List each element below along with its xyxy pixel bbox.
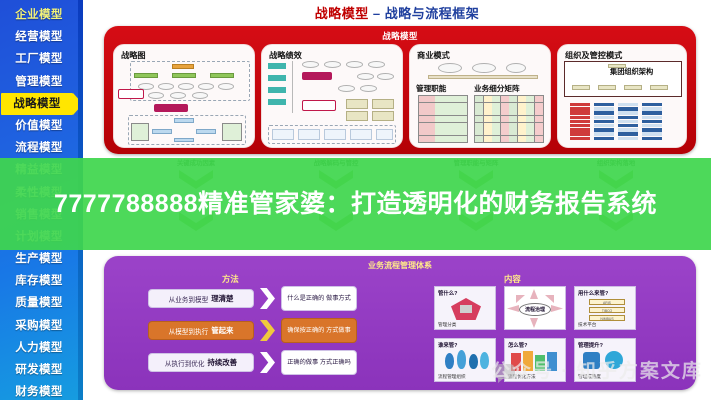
node	[218, 83, 234, 90]
node	[624, 85, 642, 90]
arrow-left-icon	[507, 305, 519, 312]
sidebar-item-label: 战略模型	[13, 98, 61, 110]
node	[650, 85, 668, 90]
sidebar-item-label: 采购模型	[15, 320, 63, 332]
node	[178, 83, 194, 90]
governance-bar-red	[570, 103, 590, 140]
sidebar-item-label: 人力模型	[15, 342, 63, 354]
content-card-footer: 技术平台	[578, 322, 596, 328]
highlight-box	[302, 100, 336, 111]
node	[210, 73, 234, 78]
content-card-title: 管什么?	[438, 289, 492, 297]
sidebar-item-0[interactable]: 企业模型	[0, 4, 78, 26]
watermark-text: 公众号 · 知乎方案文库	[491, 356, 711, 390]
sidebar-item-label: 生产模型	[15, 253, 63, 265]
callout	[302, 72, 332, 80]
page-title-primary: 战略模型	[315, 6, 369, 21]
sidebar-item-11[interactable]: 生产模型	[0, 248, 78, 270]
strategy-panel-heading: 战略模型	[104, 30, 696, 42]
node	[372, 99, 394, 109]
card-title: 商业模式	[417, 49, 550, 61]
content-card-title: 用什么来管?	[578, 289, 632, 297]
content-card-footer: 流程管理组织	[438, 374, 466, 380]
sidebar-item-1[interactable]: 经营模型	[0, 26, 78, 48]
card-strategy-performance[interactable]: 战略绩效	[261, 44, 403, 148]
arrow-down-icon	[530, 318, 538, 328]
sidebar-item-label: 研发模型	[15, 364, 63, 376]
card-strategy-map[interactable]: 战略图	[113, 44, 255, 148]
node	[268, 99, 286, 105]
sidebar-item-label: 企业模型	[15, 9, 63, 21]
arrow-diag-icon	[545, 295, 554, 303]
node	[272, 129, 294, 140]
node	[268, 75, 286, 81]
node	[428, 75, 538, 79]
flow-left-bold: 管起来	[211, 325, 233, 336]
flow-left-bold: 持续改善	[207, 357, 237, 368]
flow-left-pill: 从业务到模型 理清楚	[148, 289, 254, 308]
sidebar-item-6[interactable]: 流程模型	[0, 137, 78, 159]
node	[174, 138, 194, 142]
node	[608, 64, 626, 68]
governance-bar-blue-3	[642, 103, 662, 140]
strategy-model-panel: 战略模型 战略图	[104, 26, 696, 154]
page-title: 战略模型 – 战略与流程框架	[83, 3, 711, 22]
node	[324, 61, 341, 68]
node	[192, 92, 208, 99]
sidebar-item-3[interactable]: 管理模型	[0, 71, 78, 93]
node	[346, 111, 368, 121]
shield-inner	[460, 305, 472, 313]
sidebar-item-label: 流程模型	[15, 142, 63, 154]
arrow-right-icon	[551, 305, 563, 312]
node	[377, 73, 394, 80]
sidebar-item-label: 经营模型	[15, 31, 63, 43]
tech-row-1: TIBCO	[589, 307, 625, 313]
content-card-title: 谁来管?	[438, 341, 492, 349]
node	[506, 63, 526, 73]
person-icon	[457, 350, 466, 369]
sidebar-item-12[interactable]: 库存模型	[0, 270, 78, 292]
person-icon	[480, 352, 489, 369]
tech-row-2: NIMBUS	[589, 315, 625, 321]
arrow-up-icon	[530, 289, 538, 299]
flow-right-pill: 正确的做事 方式正确吗	[281, 350, 357, 375]
content-card-0[interactable]: 管什么? 管理分类	[434, 286, 496, 330]
sidebar-item-15[interactable]: 人力模型	[0, 337, 78, 359]
flow-row-2[interactable]: 从执行到优化 持续改善 正确的做事 方式正确吗	[148, 350, 357, 375]
sidebar-item-13[interactable]: 质量模型	[0, 292, 78, 314]
mini-table	[131, 123, 149, 141]
content-card-3[interactable]: 谁来管? 流程管理组织	[434, 338, 496, 382]
node	[357, 73, 374, 80]
node	[372, 111, 394, 121]
node	[338, 85, 355, 92]
content-card-1[interactable]: 流程治理	[504, 286, 566, 330]
page-title-secondary: – 战略与流程框架	[373, 6, 479, 21]
card-title: 战略图	[121, 49, 254, 61]
node	[302, 61, 319, 68]
flow-left-light: 从模型到执行	[169, 326, 209, 336]
content-card-title: 流程治理	[519, 303, 551, 316]
content-card-title: 怎么管?	[508, 341, 562, 349]
tech-row-0: ARIS	[589, 299, 625, 305]
content-card-title: 管理提升?	[578, 341, 632, 349]
divider	[292, 61, 293, 113]
mini-table	[222, 123, 242, 141]
card-sublabel-1: 管理职能	[416, 83, 446, 94]
node	[472, 63, 496, 73]
segment-matrix-table	[474, 95, 544, 143]
node	[268, 87, 286, 93]
card-business-model[interactable]: 商业模式 管理职能 业务细分矩阵	[409, 44, 551, 148]
node	[346, 61, 363, 68]
governance-bar-blue-1	[594, 103, 614, 140]
column-heading-method: 方法	[222, 273, 239, 285]
card-title: 战略绩效	[269, 49, 402, 61]
node	[172, 73, 196, 78]
content-card-2[interactable]: 用什么来管? ARIS TIBCO NIMBUS 技术平台	[574, 286, 636, 330]
arrow-right-icon	[260, 288, 275, 309]
flow-left-bold: 理清楚	[211, 293, 233, 304]
arrow-right-icon	[260, 320, 275, 341]
sidebar-item-label: 价值模型	[15, 120, 63, 132]
sidebar-item-label: 管理模型	[15, 76, 63, 88]
node	[172, 64, 194, 69]
column-heading-content: 内容	[504, 273, 521, 285]
node	[158, 83, 174, 90]
node	[368, 61, 385, 68]
screenshot-root: 企业模型 经营模型 工厂模型 管理模型 战略模型 价值模型 流程模型 精益模型 …	[0, 0, 711, 400]
card-org-governance[interactable]: 组织及管控模式 集团组织架构	[557, 44, 687, 148]
node	[360, 85, 377, 92]
headline-text: 7777788888精准管家婆：打造透明化的财务报告系统	[0, 158, 711, 250]
node	[376, 129, 393, 140]
sidebar-item-2[interactable]: 工厂模型	[0, 48, 78, 70]
card-sublabel-1: 集团组织架构	[610, 67, 653, 77]
node	[350, 129, 372, 140]
sidebar-item-4-active[interactable]: 战略模型	[1, 93, 73, 115]
node	[324, 129, 346, 140]
flow-left-pill: 从模型到执行 管起来	[148, 321, 254, 340]
function-matrix-table	[418, 95, 468, 143]
content-card-footer: 管理分类	[438, 322, 456, 328]
node	[198, 83, 214, 90]
sidebar-item-label: 质量模型	[15, 297, 63, 309]
sidebar-item-17[interactable]: 财务模型	[0, 381, 78, 400]
node	[152, 129, 172, 134]
node	[298, 129, 320, 140]
arrow-diag-icon	[516, 295, 525, 303]
node	[170, 92, 186, 99]
sidebar-item-16[interactable]: 研发模型	[0, 359, 78, 381]
sidebar-item-label: 库存模型	[15, 275, 63, 287]
arrow-right-icon	[260, 352, 275, 373]
sidebar-item-label: 工厂模型	[15, 53, 63, 65]
callout	[154, 104, 188, 112]
flow-right-pill: 确保按正确的 方式做事	[281, 318, 357, 343]
sidebar-item-label: 财务模型	[15, 386, 63, 398]
node	[148, 92, 164, 99]
card-sublabel-2: 业务细分矩阵	[474, 83, 520, 94]
flow-right-pill: 什么是正确的 做事方式	[281, 286, 357, 311]
flow-left-light: 从业务到模型	[169, 294, 209, 304]
highlight-box	[118, 89, 144, 99]
node	[346, 99, 368, 109]
process-panel-heading: 业务流程管理体系	[104, 260, 696, 271]
flow-row-1[interactable]: 从模型到执行 管起来 确保按正确的 方式做事	[148, 318, 357, 343]
node	[268, 63, 286, 69]
node	[438, 63, 462, 73]
person-icon	[445, 353, 454, 369]
flow-left-light: 从执行到优化	[165, 358, 205, 368]
governance-bar-blue-2	[618, 103, 638, 140]
node	[572, 85, 590, 90]
node	[174, 118, 194, 123]
sidebar-item-5[interactable]: 价值模型	[0, 115, 78, 137]
card-title: 组织及管控模式	[565, 49, 686, 61]
node	[134, 73, 158, 78]
flow-left-pill: 从执行到优化 持续改善	[148, 353, 254, 372]
node	[598, 85, 616, 90]
node	[196, 129, 216, 134]
flow-row-0[interactable]: 从业务到模型 理清楚 什么是正确的 做事方式	[148, 286, 357, 311]
person-icon	[469, 354, 478, 369]
sidebar-item-14[interactable]: 采购模型	[0, 315, 78, 337]
